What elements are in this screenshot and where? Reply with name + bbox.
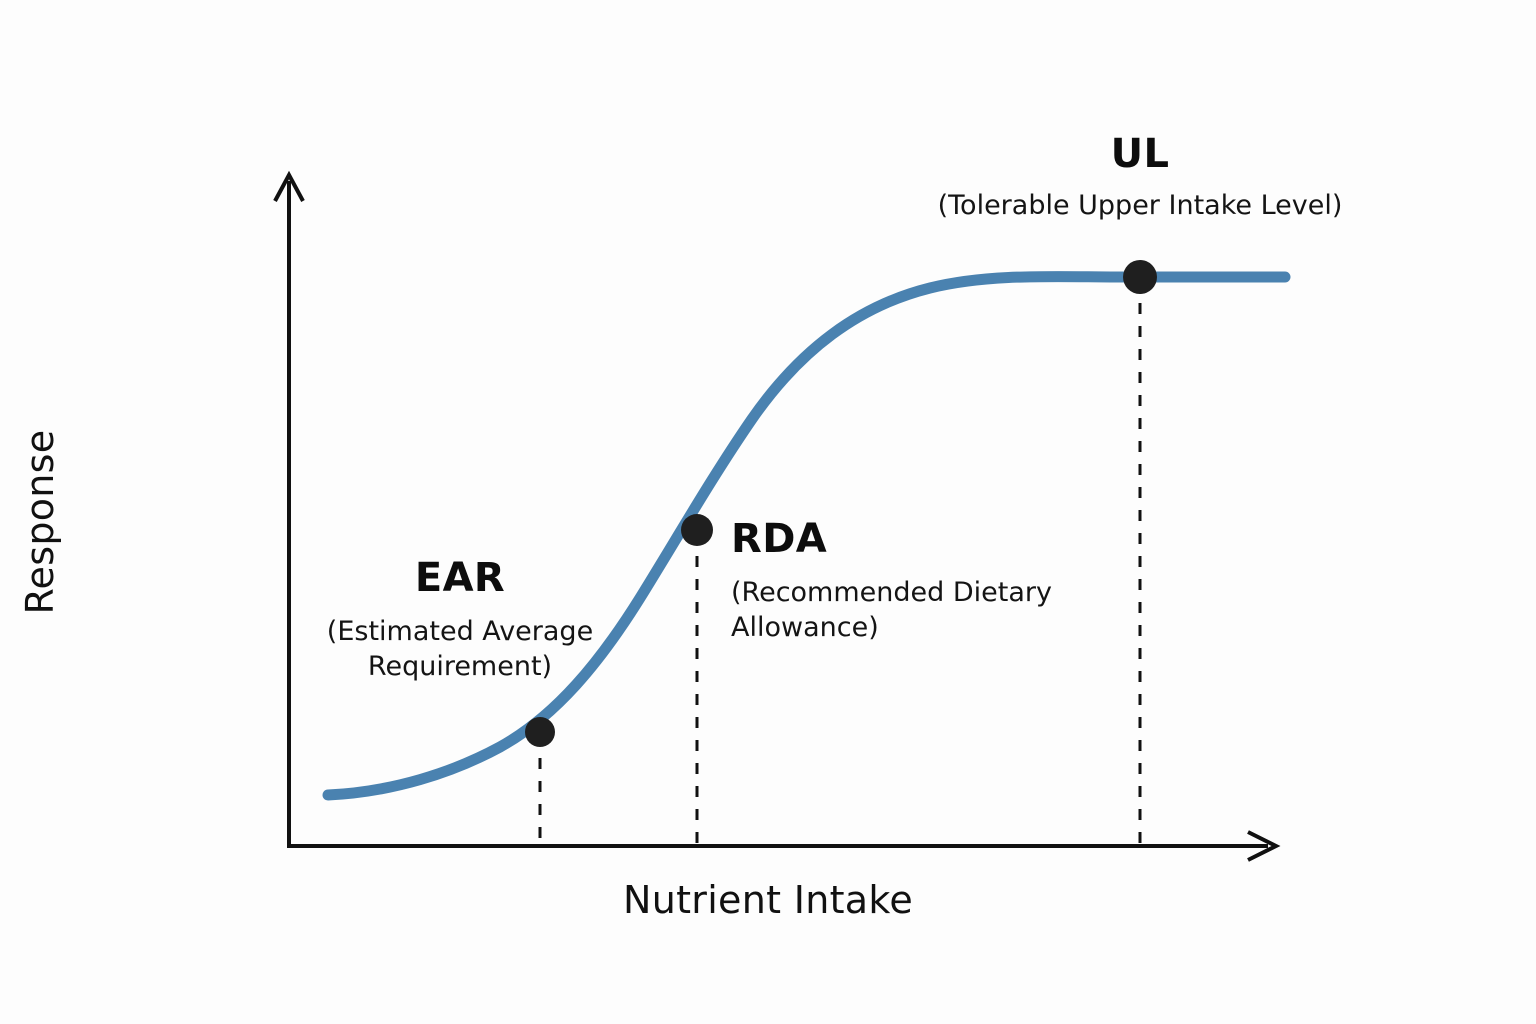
annotation-rda-code: RDA [731, 518, 1151, 561]
annotation-ul-expansion: (Tolerable Upper Intake Level) [828, 188, 1452, 223]
annotation-ear-code: EAR [310, 557, 610, 600]
annotation-ear-expansion: (Estimated Average Requirement) [310, 614, 610, 684]
annotation-rda: RDA (Recommended Dietary Allowance) [731, 518, 1151, 645]
x-axis-title: Nutrient Intake [0, 878, 1536, 922]
annotation-ul: UL (Tolerable Upper Intake Level) [828, 133, 1452, 223]
annotation-ear: EAR (Estimated Average Requirement) [310, 557, 610, 684]
marker-rda[interactable] [681, 514, 713, 546]
annotation-rda-expansion: (Recommended Dietary Allowance) [731, 575, 1151, 645]
annotation-ul-code: UL [828, 133, 1452, 176]
chart-figure: Nutrient Intake Response UL (Tolerable U… [0, 0, 1536, 1024]
y-axis-title: Response [18, 292, 62, 752]
marker-ear[interactable] [525, 717, 555, 747]
marker-ul[interactable] [1123, 260, 1157, 294]
